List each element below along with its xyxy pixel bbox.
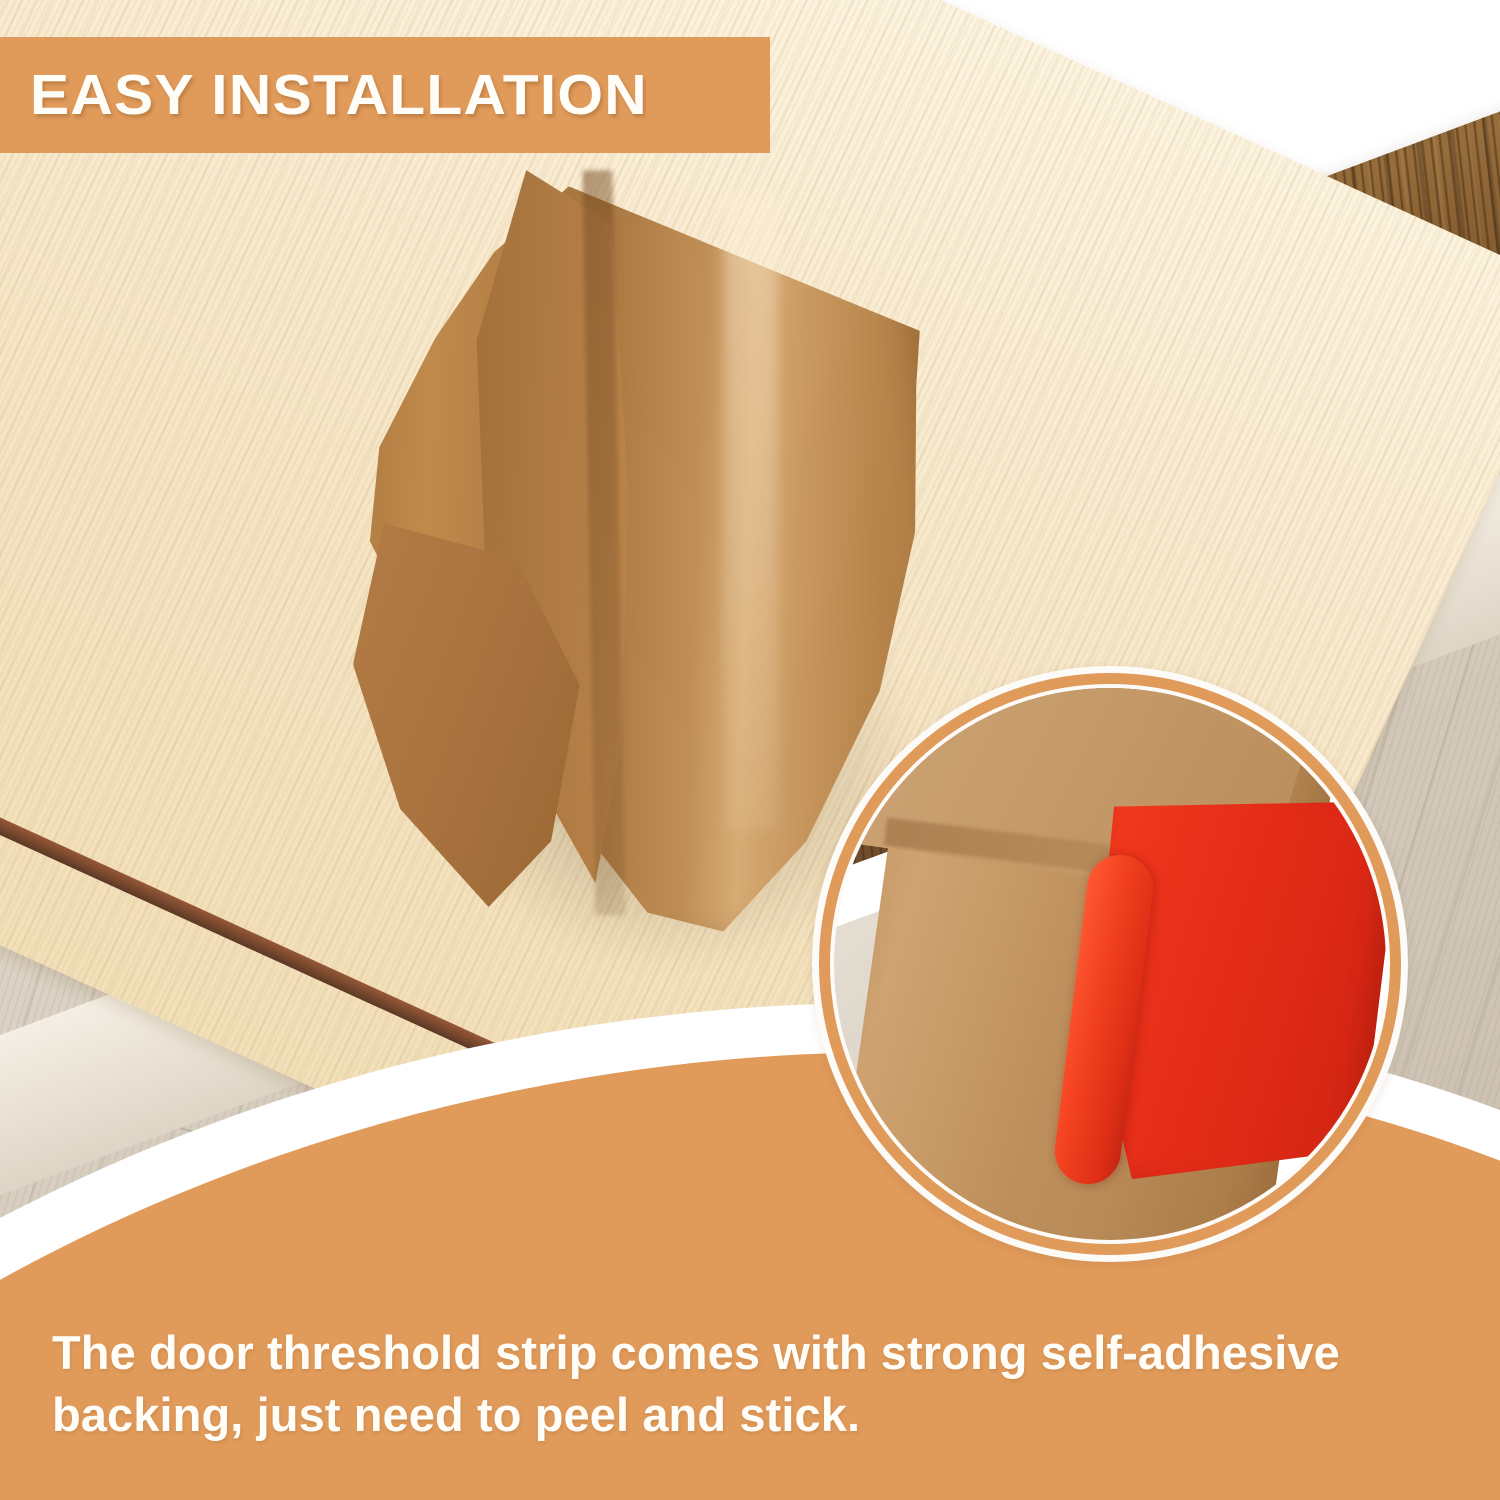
inset-ring-border (819, 673, 1401, 1255)
header-banner: EASY INSTALLATION (0, 37, 770, 153)
product-marketing-image: EASY INSTALLATION The door threshold str… (0, 0, 1500, 1500)
caption-text: The door threshold strip comes with stro… (52, 1322, 1462, 1446)
banner-title: EASY INSTALLATION (30, 67, 648, 124)
closeup-inset (812, 666, 1408, 1262)
seal-highlight (724, 192, 778, 830)
